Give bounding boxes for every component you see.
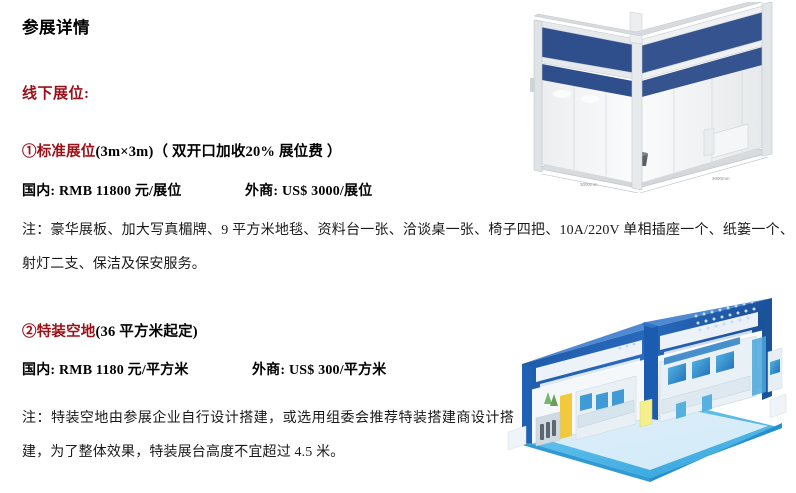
item-2-heading: ②特装空地(36 平方米起定) — [22, 320, 198, 341]
item-1-price-line: 国内: RMB 11800 元/展位 外商: US$ 3000/展位 — [22, 180, 372, 200]
booth-post-left — [534, 20, 542, 172]
item-1-domestic-label: 国内: — [22, 184, 55, 199]
item-2-spec: (36 平方米起定) — [96, 324, 198, 340]
item-1-overseas-value: US$ 3000/展位 — [282, 184, 373, 199]
item-2-name: 特装空地 — [37, 324, 96, 340]
item-2-overseas-value: US$ 300/平方米 — [289, 363, 387, 378]
item-1-marker: ① — [22, 144, 37, 160]
display-screen — [596, 392, 608, 410]
item-1-heading: ①标准展位(3m×3m)（ 双开口加收20% 展位费 ） — [22, 140, 342, 161]
accent-panel-yellow — [560, 393, 572, 439]
dimension-label-width: 3000mm — [580, 182, 598, 187]
item-1-spec: (3m×3m)（ 双开口加收20% 展位费 ） — [96, 144, 342, 160]
text-column: 参展详情 线下展位: ①标准展位(3m×3m)（ 双开口加收20% 展位费 ） … — [22, 0, 532, 493]
item-2-price-line: 国内: RMB 1180 元/平方米 外商: US$ 300/平方米 — [22, 359, 386, 379]
display-screen — [580, 393, 592, 411]
item-1-name: 标准展位 — [37, 144, 96, 160]
item-2-domestic-value: RMB 1180 元/平方米 — [59, 363, 189, 378]
custom-booth-image — [500, 292, 796, 492]
reception-cube-right — [770, 394, 786, 418]
item-1-note: 注：豪华展板、加大写真楣牌、9 平方米地毯、资料台一张、洽谈桌一张、椅子四把、1… — [22, 214, 794, 282]
counter-kiosk — [702, 394, 712, 412]
item-1-overseas-label: 外商: — [245, 184, 278, 199]
counter-kiosk — [676, 401, 686, 419]
reception-cube-left — [508, 426, 526, 450]
flyer-board — [640, 399, 652, 427]
item-2-overseas-label: 外商: — [252, 363, 285, 378]
corner-glass-tower — [752, 336, 766, 396]
booth-side-tag — [530, 78, 535, 92]
item-2-domestic-label: 国内: — [22, 363, 55, 378]
item-1-domestic-value: RMB 11800 元/展位 — [59, 184, 182, 199]
item-2-note: 注：特装空地由参展企业自行设计搭建，或选用组委会推荐特装搭建商设计搭建，为了整体… — [22, 402, 514, 470]
page-title: 参展详情 — [22, 14, 90, 38]
booth-post-right — [762, 2, 772, 156]
item-2-marker: ② — [22, 324, 37, 340]
exhibition-details-page: 参展详情 线下展位: ①标准展位(3m×3m)（ 双开口加收20% 展位费 ） … — [0, 0, 796, 493]
booth-post-center — [632, 40, 642, 190]
dimension-label-depth: 3000mm — [712, 176, 730, 181]
section-label-offline-booth: 线下展位: — [22, 82, 90, 103]
standard-booth-image: 3000mm 3000mm — [516, 2, 792, 198]
